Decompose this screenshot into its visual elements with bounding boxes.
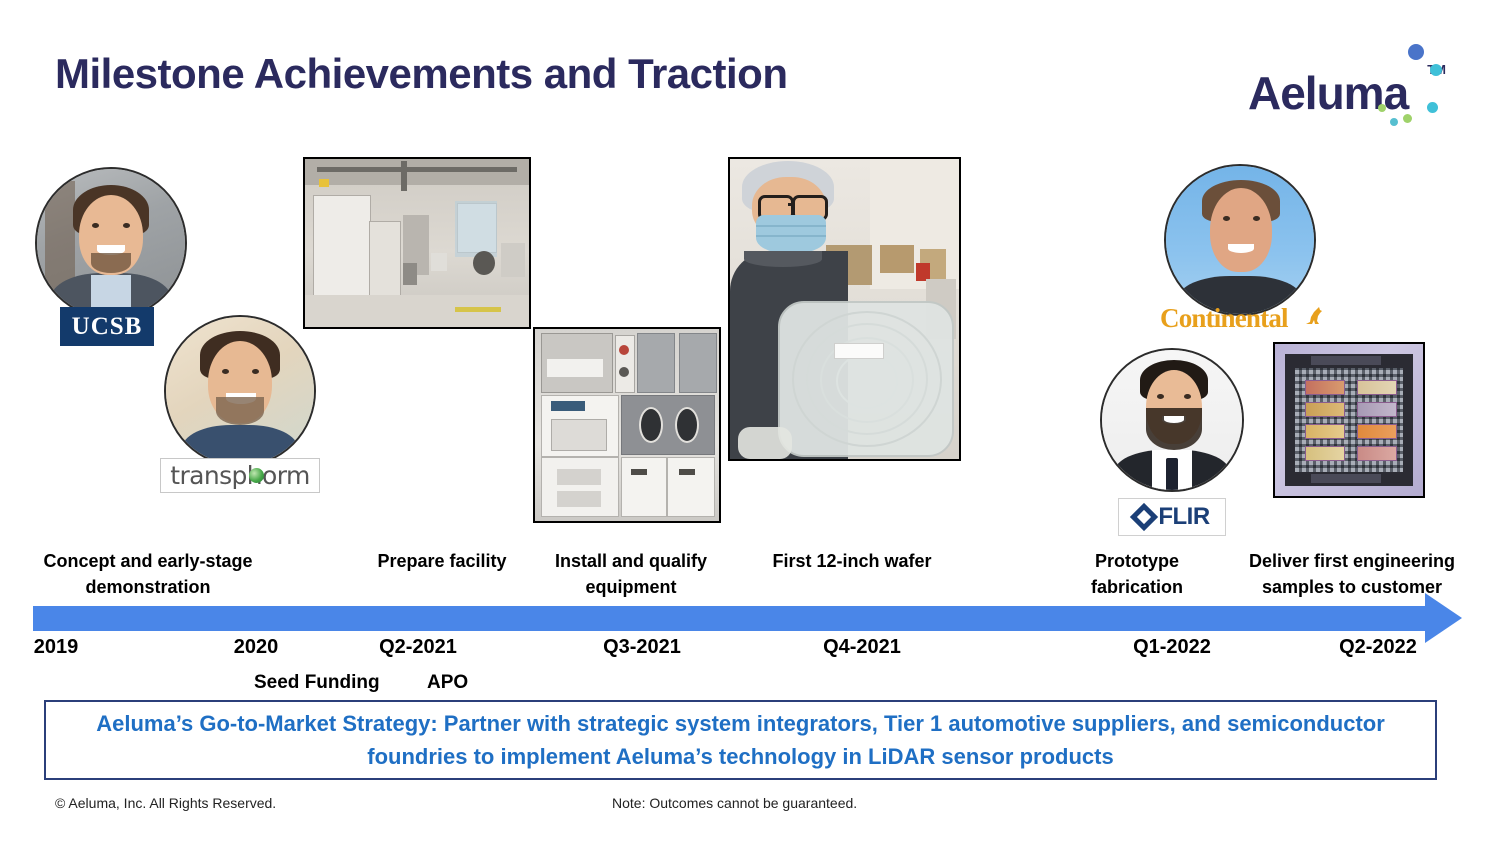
photo-wafer-carrier: [728, 157, 961, 461]
strategy-callout-box: Aeluma’s Go-to-Market Strategy: Partner …: [44, 700, 1437, 780]
transphorm-logo: transphorm: [160, 458, 320, 493]
flir-diamond-icon: [1130, 503, 1158, 531]
continental-logo-text: Continental: [1160, 303, 1288, 334]
logo-wordmark: Aeluma: [1248, 66, 1408, 120]
caption-concept: Concept and early-stage demonstration: [16, 548, 280, 600]
slide-root: Milestone Achievements and Traction Aelu…: [0, 0, 1500, 843]
photo-chip-die: [1273, 342, 1425, 498]
photo-process-equipment: [533, 327, 721, 523]
portrait-flir-contact: [1100, 348, 1244, 492]
timeline-date-q1-2022: Q1-2022: [1086, 636, 1258, 659]
caption-first-wafer: First 12-inch wafer: [742, 548, 962, 574]
timeline-date-2020: 2020: [200, 636, 312, 659]
continental-logo: Continental: [1160, 303, 1324, 333]
logo-dot-icon: [1427, 102, 1438, 113]
caption-prototype: Prototype fabrication: [1062, 548, 1212, 600]
caption-prepare-facility: Prepare facility: [342, 548, 542, 574]
portrait-ucsb-founder: [35, 167, 187, 319]
timeline-sublabel-apo: APO: [427, 672, 468, 694]
transphorm-logo-text: transphorm: [170, 461, 309, 490]
flir-logo: FLIR: [1118, 498, 1226, 536]
logo-dot-icon: [1378, 104, 1386, 112]
caption-install-equipment: Install and qualify equipment: [538, 548, 724, 600]
logo-dot-icon: [1403, 114, 1412, 123]
horse-icon: [1302, 304, 1326, 328]
logo-dot-icon: [1408, 44, 1424, 60]
timeline-date-q2-2022: Q2-2022: [1292, 636, 1464, 659]
footer-note: Note: Outcomes cannot be guaranteed.: [612, 795, 857, 811]
timeline-arrow-bar: [33, 606, 1443, 631]
timeline-sublabel-seed-funding: Seed Funding: [254, 672, 380, 694]
footer-copyright: © Aeluma, Inc. All Rights Reserved.: [55, 795, 276, 811]
timeline-date-2019: 2019: [0, 636, 112, 659]
page-title: Milestone Achievements and Traction: [55, 50, 787, 98]
strategy-text: Aeluma’s Go-to-Market Strategy: Partner …: [60, 707, 1421, 773]
timeline-date-q2-2021: Q2-2021: [332, 636, 504, 659]
portrait-continental-contact: [1164, 164, 1316, 316]
aeluma-logo: Aeluma TM: [1248, 40, 1448, 140]
logo-dot-icon: [1430, 64, 1442, 76]
ucsb-logo: UCSB: [60, 307, 154, 346]
strategy-line-1: Aeluma’s Go-to-Market Strategy: Partner …: [96, 711, 1176, 736]
photo-facility-room: [303, 157, 531, 329]
logo-dot-icon: [1390, 118, 1398, 126]
timeline-date-q4-2021: Q4-2021: [776, 636, 948, 659]
flir-logo-text: FLIR: [1158, 503, 1209, 531]
timeline-date-q3-2021: Q3-2021: [556, 636, 728, 659]
portrait-transphorm-founder: [164, 315, 316, 467]
